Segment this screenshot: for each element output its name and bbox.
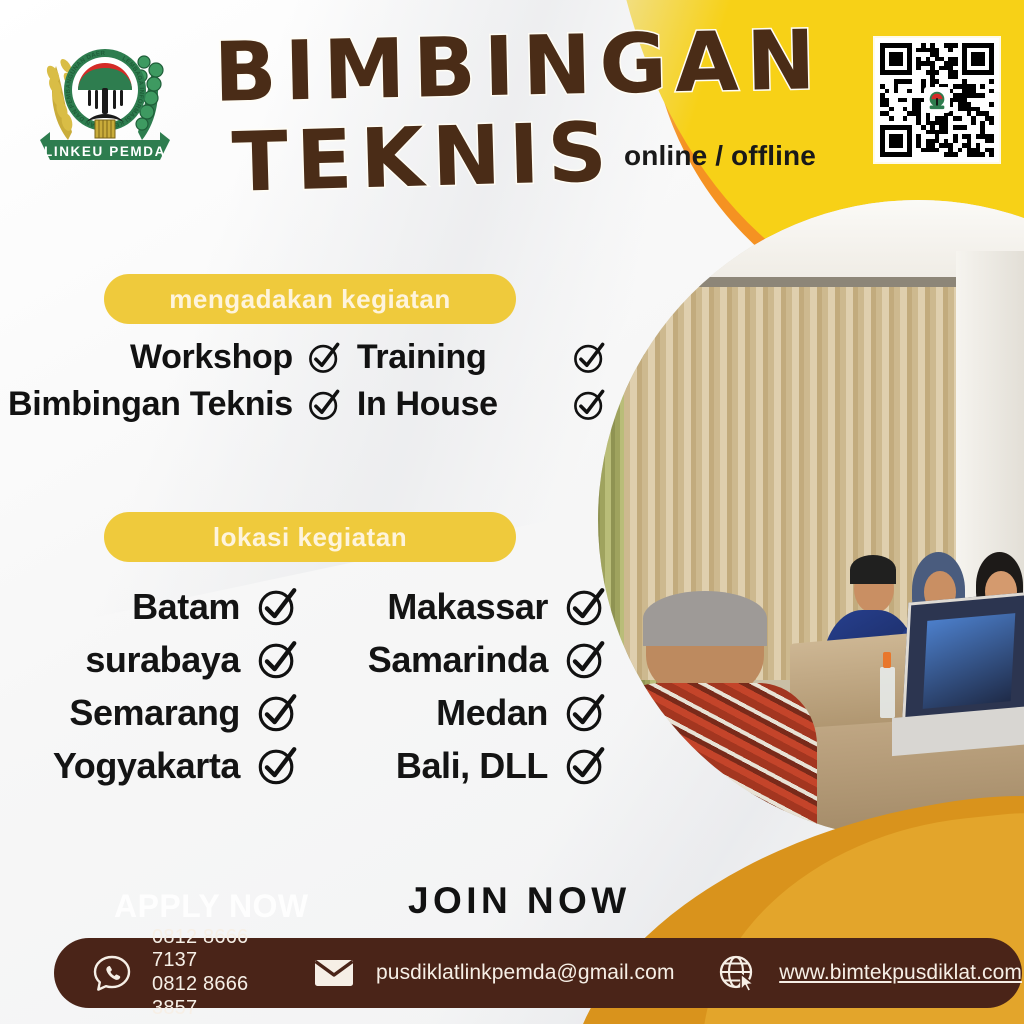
check-icon-bali-dll — [564, 745, 608, 787]
envelope-icon — [312, 955, 356, 991]
location-label-batam: Batam — [8, 586, 240, 628]
check-icon-surabaya — [256, 639, 300, 681]
check-icon-makassar — [564, 586, 608, 628]
activity-label-bimbingan-teknis: Bimbingan Teknis — [8, 385, 293, 424]
whatsapp-icon — [90, 951, 134, 995]
check-icon-medan — [564, 692, 608, 734]
contact-footer-bar: 0812 8666 7137 0812 8666 3857 pusdiklatl… — [54, 938, 1022, 1008]
footer-phone-2: 0812 8666 3857 — [152, 973, 275, 1020]
meeting-room-photo — [598, 200, 1024, 840]
join-now-text: JOIN NOW — [408, 880, 631, 922]
check-icon-batam — [256, 586, 300, 628]
footer-website-text: www.bimtekpusdiklat.com — [779, 961, 1022, 985]
linkeu-pemda-logo: LEMBAGA INFORMASI KEUANGAN DAN PEMBANGUN… — [26, 28, 184, 168]
qr-code[interactable] — [875, 38, 999, 162]
activity-label-workshop: Workshop — [8, 338, 293, 377]
footer-phone-item[interactable]: 0812 8666 7137 0812 8666 3857 — [90, 926, 275, 1020]
check-icon-in-house — [572, 388, 608, 422]
footer-website-item[interactable]: www.bimtekpusdiklat.com — [715, 952, 1022, 994]
footer-email-text: pusdiklatlinkpemda@gmail.com — [376, 961, 675, 985]
location-label-surabaya: surabaya — [8, 639, 240, 681]
footer-phone-numbers: 0812 8666 7137 0812 8666 3857 — [152, 926, 275, 1020]
locations-list: Batam Makassar surabaya Samarinda — [8, 586, 608, 787]
location-label-yogyakarta: Yogyakarta — [8, 745, 240, 787]
check-icon-bimbingan-teknis — [307, 388, 343, 422]
photo-scene — [598, 200, 1024, 840]
title-subtitle: online / offline — [624, 140, 816, 172]
globe-icon — [715, 952, 761, 994]
check-icon-training — [572, 341, 608, 375]
activities-list: Workshop Training Bimbingan Teknis In Ho… — [8, 338, 608, 424]
check-icon-yogyakarta — [256, 745, 300, 787]
location-label-samarinda: Samarinda — [316, 639, 548, 681]
pill-lokasi-kegiatan: lokasi kegiatan — [104, 512, 516, 562]
activity-label-training: Training — [357, 338, 558, 377]
logo-ribbon-text: LINKEU PEMDA — [44, 144, 166, 159]
check-icon-samarinda — [564, 639, 608, 681]
footer-email-item[interactable]: pusdiklatlinkpemda@gmail.com — [312, 955, 675, 991]
apply-now-watermark: APPLY NOW — [114, 888, 309, 925]
foreground-person-hair — [643, 591, 767, 646]
check-icon-semarang — [256, 692, 300, 734]
activity-label-in-house: In House — [357, 385, 558, 424]
qr-center-logo — [924, 87, 950, 113]
poster-canvas: LEMBAGA INFORMASI KEUANGAN DAN PEMBANGUN… — [0, 0, 1024, 1024]
footer-phone-1: 0812 8666 7137 — [152, 926, 275, 973]
location-label-medan: Medan — [316, 692, 548, 734]
title-line-1: BIMBINGAN — [213, 19, 865, 115]
pill-mengadakan-kegiatan: mengadakan kegiatan — [104, 274, 516, 324]
curtain-rod — [617, 277, 1001, 287]
foreground-person — [611, 597, 905, 840]
location-label-semarang: Semarang — [8, 692, 240, 734]
check-icon-workshop — [307, 341, 343, 375]
location-label-bali-dll: Bali, DLL — [316, 745, 548, 787]
foreground-person-batik-shirt — [598, 683, 817, 840]
location-label-makassar: Makassar — [316, 586, 548, 628]
